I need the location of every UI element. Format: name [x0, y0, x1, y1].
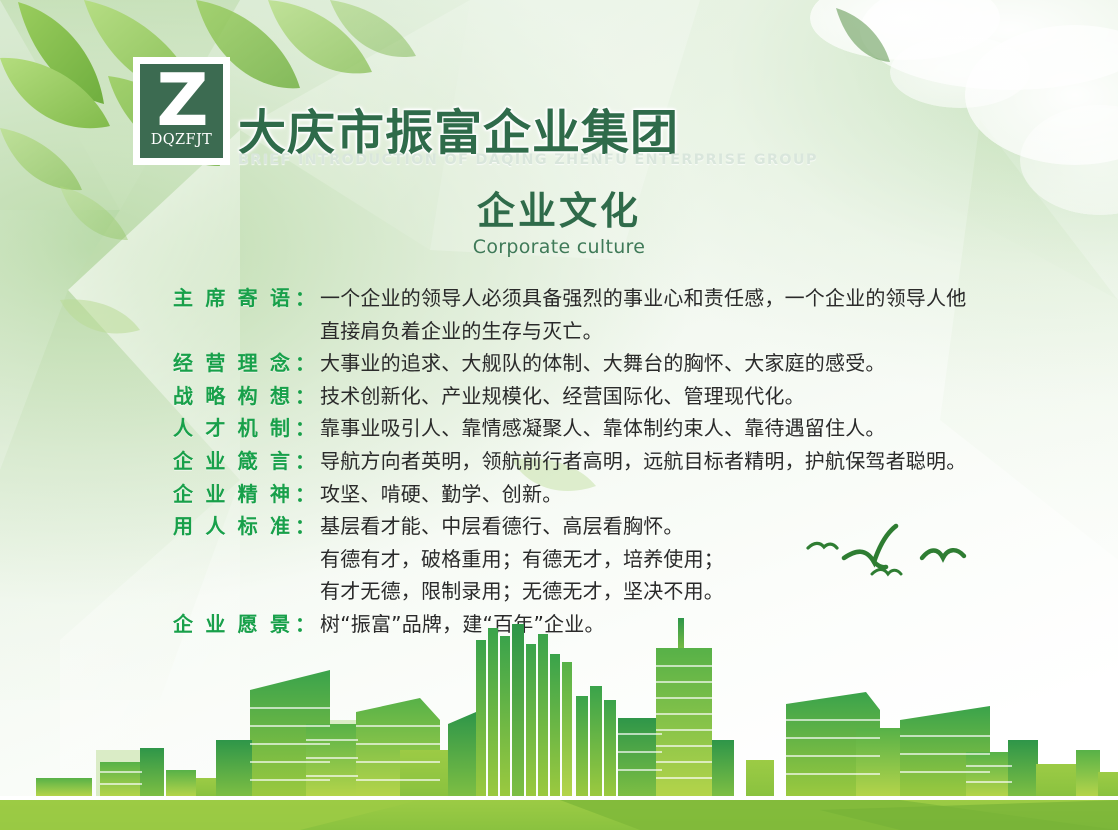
culture-row-label: 人才机制 [173, 412, 295, 445]
culture-row-text: 攻坚、啃硬、勤学、创新。 [320, 478, 1118, 511]
section-title-en: Corporate culture [0, 236, 1118, 258]
section-title-cn: 企业文化 [0, 191, 1118, 233]
culture-row-text: 大事业的追求、大舰队的体制、大舞台的胸怀、大家庭的感受。 [320, 347, 1118, 380]
culture-row: 战略构想：技术创新化、产业规模化、经营国际化、管理现代化。 [0, 380, 1118, 413]
culture-row-text: 靠事业吸引人、靠情感凝聚人、靠体制约束人、靠待遇留住人。 [320, 412, 1118, 445]
brand-subtitle-en: BRIEF INTRODUCTION OF DAQING ZHENFU ENTE… [238, 152, 818, 168]
flying-birds-icon [800, 522, 975, 592]
culture-row-label: 企业精神 [173, 478, 295, 511]
culture-row-text: 有德有才，破格重用；有德无才，培养使用； [320, 543, 1118, 576]
culture-row-colon: ： [295, 282, 315, 315]
culture-row-label: 用人标准 [173, 510, 295, 543]
culture-row-label: 主席寄语 [173, 282, 295, 315]
poster-canvas: Z DQZFJT 大庆市振富企业集团 BRIEF INTRODUCTION OF… [0, 0, 1118, 830]
culture-row-colon: ： [295, 478, 315, 511]
culture-row-continuation: 直接肩负着企业的生存与灭亡。 [0, 315, 1118, 348]
culture-row-colon: ： [295, 412, 315, 445]
culture-row-label: 经营理念 [173, 347, 295, 380]
culture-row-label: 企业箴言 [173, 445, 295, 478]
culture-row: 企业箴言：导航方向者英明，领航前行者高明，远航目标者精明，护航保驾者聪明。 [0, 445, 1118, 478]
culture-row-colon: ： [295, 445, 315, 478]
culture-row: 人才机制：靠事业吸引人、靠情感凝聚人、靠体制约束人、靠待遇留住人。 [0, 412, 1118, 445]
culture-row-text: 技术创新化、产业规模化、经营国际化、管理现代化。 [320, 380, 1118, 413]
culture-row-text: 基层看才能、中层看德行、高层看胸怀。 [320, 510, 1118, 543]
culture-row-text: 直接肩负着企业的生存与灭亡。 [320, 315, 1118, 348]
company-logo: Z DQZFJT [133, 57, 230, 165]
culture-row: 主席寄语：一个企业的领导人必须具备强烈的事业心和责任感，一个企业的领导人他 [0, 282, 1118, 315]
poster-header: Z DQZFJT 大庆市振富企业集团 BRIEF INTRODUCTION OF… [0, 0, 1118, 185]
cityscape-decor [0, 600, 1118, 830]
culture-row-colon: ： [295, 380, 315, 413]
culture-row: 企业精神：攻坚、啃硬、勤学、创新。 [0, 478, 1118, 511]
logo-letter-z: Z [156, 66, 206, 136]
culture-row: 经营理念：大事业的追求、大舰队的体制、大舞台的胸怀、大家庭的感受。 [0, 347, 1118, 380]
section-title-block: 企业文化 Corporate culture [0, 191, 1118, 258]
culture-row-colon: ： [295, 347, 315, 380]
culture-row-text: 导航方向者英明，领航前行者高明，远航目标者精明，护航保驾者聪明。 [320, 445, 1118, 478]
culture-row-colon: ： [295, 510, 315, 543]
logo-abbreviation: DQZFJT [151, 132, 213, 148]
logo-mark: Z DQZFJT [140, 64, 223, 158]
culture-row-text: 一个企业的领导人必须具备强烈的事业心和责任感，一个企业的领导人他 [320, 282, 1118, 315]
culture-row-label: 战略构想 [173, 380, 295, 413]
